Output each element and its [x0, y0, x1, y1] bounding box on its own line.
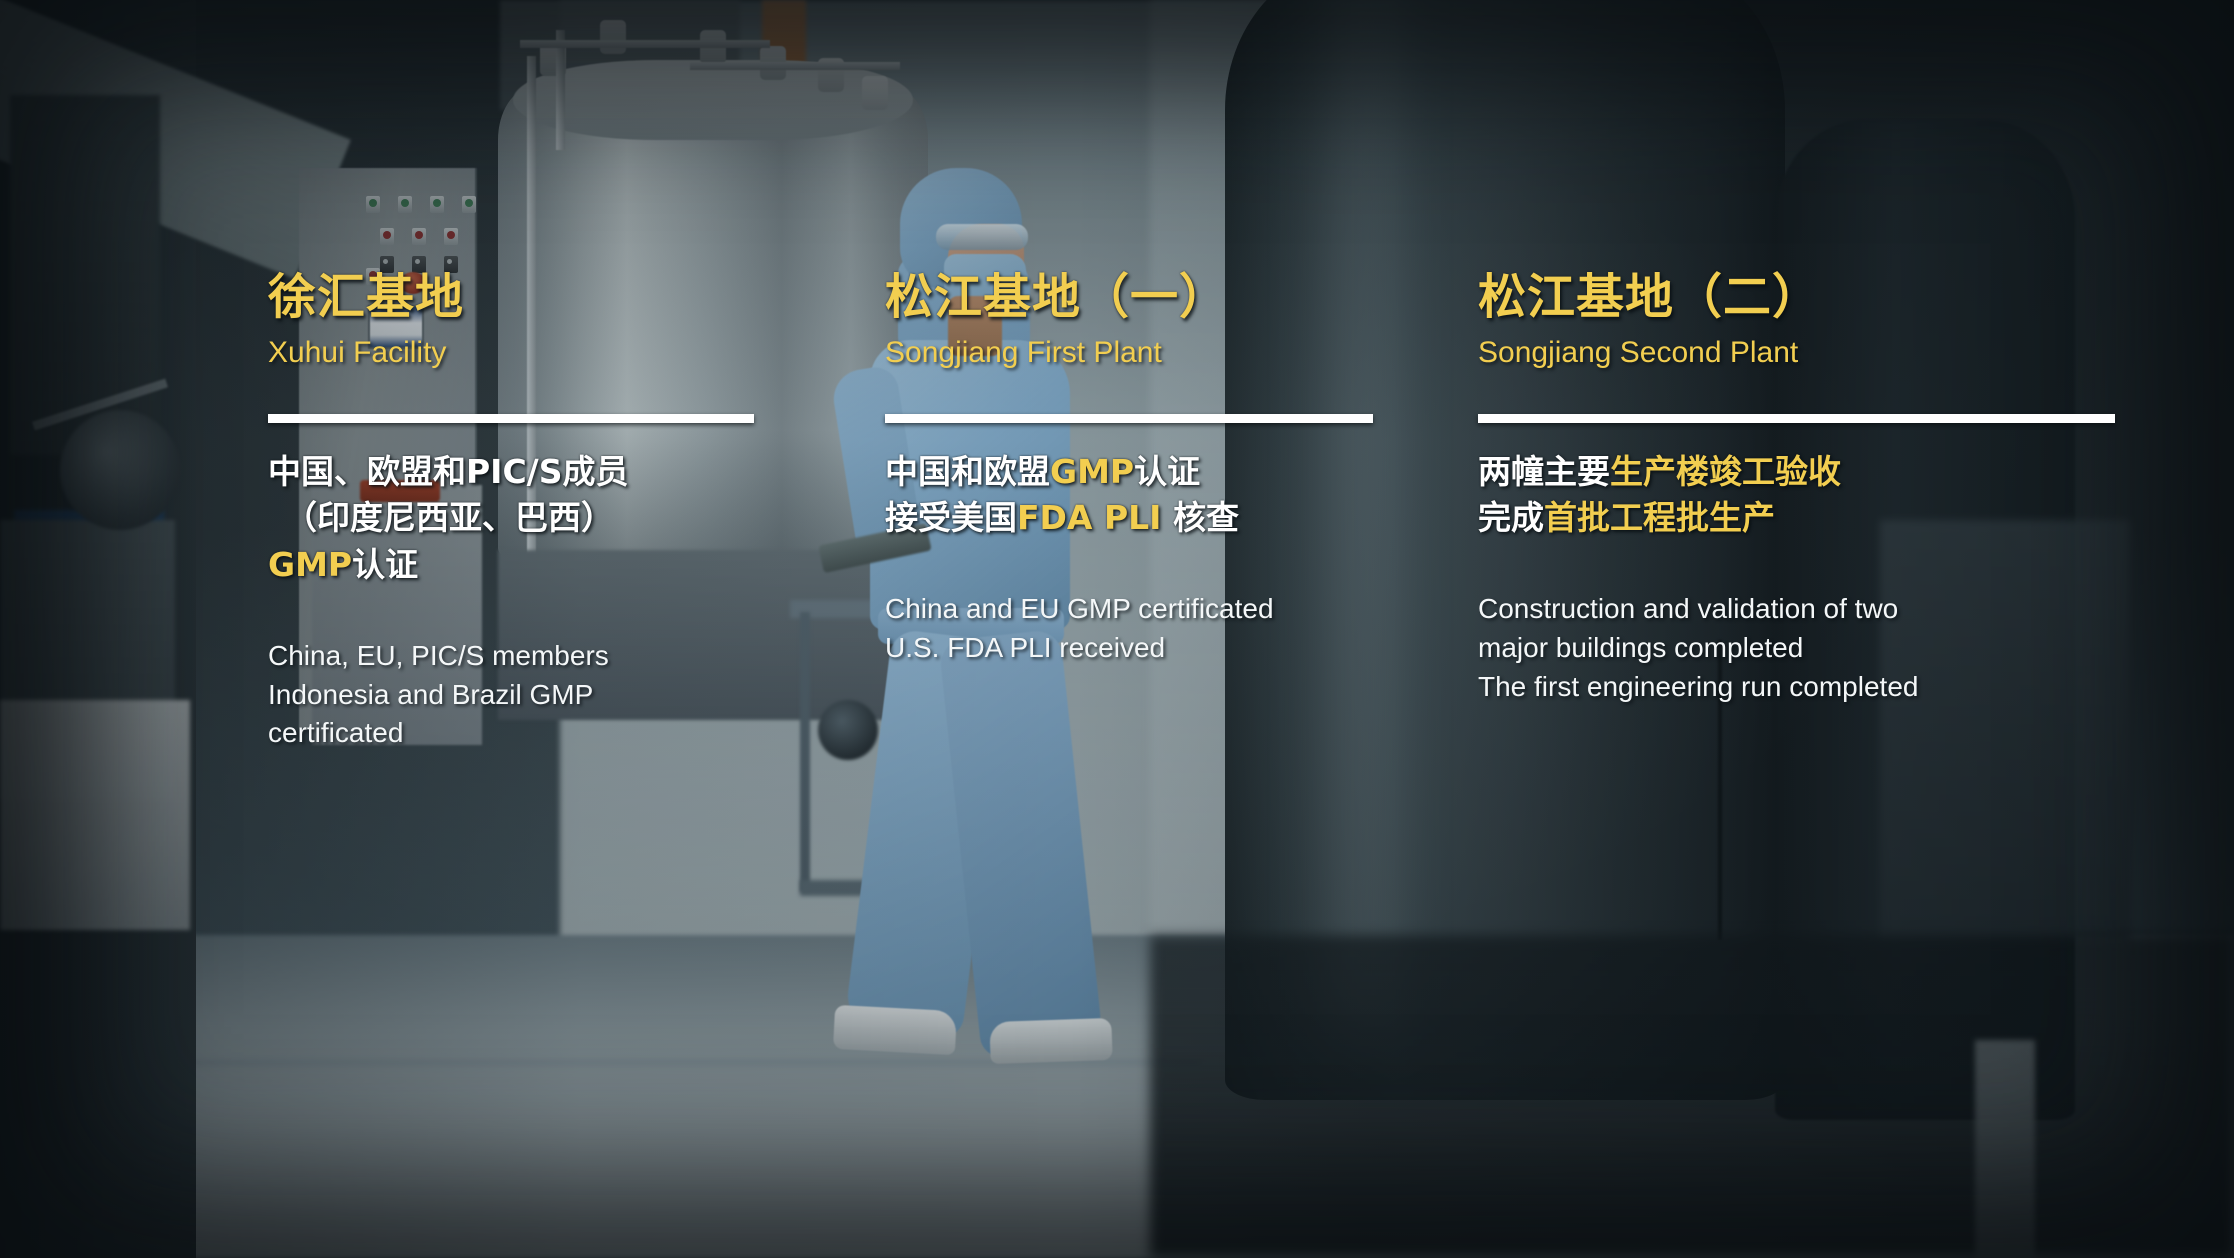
facility-body-cjk: 中国和欧盟GMP认证接受美国FDA PLI 核查: [885, 449, 1445, 543]
text-run: 认证: [352, 545, 418, 584]
facility-title-cjk: 徐汇基地: [268, 268, 808, 327]
text-run: 中国、欧盟和PIC/S成员: [268, 452, 629, 491]
facility-column-xuhui: 徐汇基地 Xuhui Facility 中国、欧盟和PIC/S成员（印度尼西亚、…: [268, 268, 808, 753]
body-line-2: major buildings completed: [1478, 629, 2178, 668]
body-line-2: 完成首批工程批生产: [1478, 495, 2178, 542]
text-run: （印度尼西亚、巴西）: [284, 498, 614, 537]
text-run: 完成: [1478, 498, 1544, 537]
column-divider-rule: [885, 414, 1373, 423]
facility-body-en: Construction and validation of twomajor …: [1478, 590, 2178, 706]
facility-column-songjiang-first: 松江基地（一） Songjiang First Plant 中国和欧盟GMP认证…: [885, 268, 1445, 668]
body-line-3: certificated: [268, 714, 808, 753]
facility-title-en: Songjiang First Plant: [885, 333, 1445, 372]
highlight-run: FDA PLI: [1017, 498, 1161, 537]
body-line-1: China, EU, PIC/S members: [268, 637, 808, 676]
text-run: 中国和欧盟: [885, 452, 1050, 491]
body-line-1: 中国、欧盟和PIC/S成员: [268, 449, 808, 496]
highlight-run: 首批工程批生产: [1544, 498, 1775, 537]
facility-body-cjk: 中国、欧盟和PIC/S成员（印度尼西亚、巴西）GMP认证: [268, 449, 808, 590]
facility-title-en: Songjiang Second Plant: [1478, 333, 2178, 372]
body-line-3: The first engineering run completed: [1478, 668, 2178, 707]
body-line-2: U.S. FDA PLI received: [885, 629, 1445, 668]
facility-title-cjk: 松江基地（二）: [1478, 268, 2178, 327]
highlight-run: GMP: [268, 545, 352, 584]
text-run: 核查: [1161, 498, 1239, 537]
highlight-run: GMP: [1050, 452, 1134, 491]
facility-columns: 徐汇基地 Xuhui Facility 中国、欧盟和PIC/S成员（印度尼西亚、…: [0, 0, 2234, 1258]
column-divider-rule: [268, 414, 754, 423]
body-line-3: GMP认证: [268, 542, 808, 589]
body-line-1: 两幢主要生产楼竣工验收: [1478, 449, 2178, 496]
body-line-2: Indonesia and Brazil GMP: [268, 676, 808, 715]
body-line-1: China and EU GMP certificated: [885, 590, 1445, 629]
facility-title-en: Xuhui Facility: [268, 333, 808, 372]
text-run: 认证: [1134, 452, 1200, 491]
highlight-run: 生产楼竣工验收: [1610, 452, 1841, 491]
body-line-2: （印度尼西亚、巴西）: [268, 495, 808, 542]
facility-body-cjk: 两幢主要生产楼竣工验收完成首批工程批生产: [1478, 449, 2178, 543]
text-run: 两幢主要: [1478, 452, 1610, 491]
facility-body-en: China, EU, PIC/S membersIndonesia and Br…: [268, 637, 808, 753]
text-run: 接受美国: [885, 498, 1017, 537]
body-line-1: 中国和欧盟GMP认证: [885, 449, 1445, 496]
facility-title-cjk: 松江基地（一）: [885, 268, 1445, 327]
column-divider-rule: [1478, 414, 2115, 423]
body-line-2: 接受美国FDA PLI 核查: [885, 495, 1445, 542]
body-line-1: Construction and validation of two: [1478, 590, 2178, 629]
facility-body-en: China and EU GMP certificatedU.S. FDA PL…: [885, 590, 1445, 667]
facility-column-songjiang-second: 松江基地（二） Songjiang Second Plant 两幢主要生产楼竣工…: [1478, 268, 2178, 706]
slide-root: 徐汇基地 Xuhui Facility 中国、欧盟和PIC/S成员（印度尼西亚、…: [0, 0, 2234, 1258]
